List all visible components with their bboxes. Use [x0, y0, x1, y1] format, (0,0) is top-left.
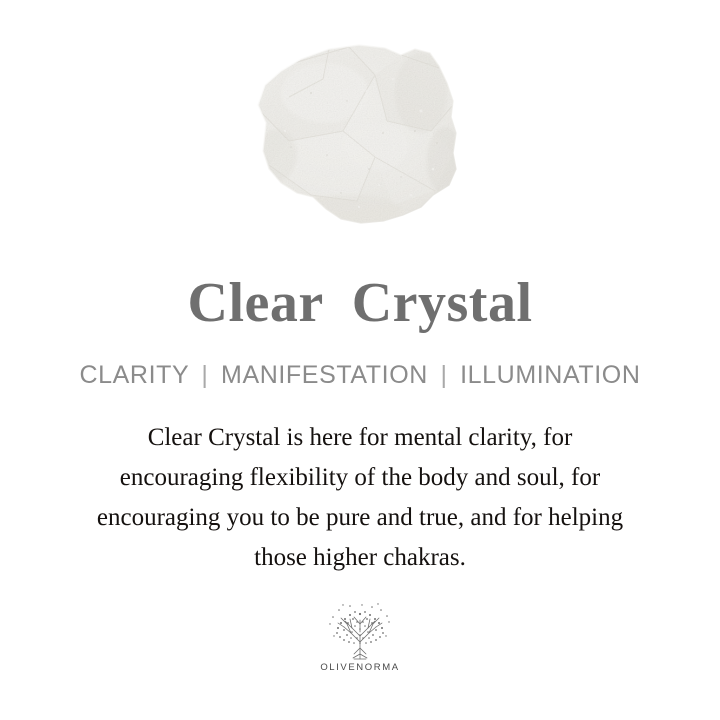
- hero-image-area: [0, 0, 720, 275]
- crystal-image: [225, 35, 495, 250]
- product-info-card: Clear Crystal CLARITY | MANIFESTATION | …: [0, 0, 720, 720]
- description-text: Clear Crystal is here for mental clarity…: [45, 418, 675, 578]
- description-line: those higher chakras.: [45, 538, 675, 578]
- description-line: encouraging you to be pure and true, and…: [45, 498, 675, 538]
- description-line: Clear Crystal is here for mental clarity…: [45, 418, 675, 458]
- keyword-separator: |: [435, 361, 452, 389]
- keyword-separator: |: [196, 361, 213, 389]
- brand-name: OLIVENORMA: [320, 662, 399, 673]
- keyword-illumination: ILLUMINATION: [460, 361, 640, 389]
- brand-logo: OLIVENORMA: [317, 602, 403, 673]
- page-title: Clear Crystal: [188, 275, 533, 331]
- keyword-clarity: CLARITY: [80, 361, 189, 389]
- olive-tree-icon: [317, 602, 403, 660]
- keyword-list: CLARITY | MANIFESTATION | ILLUMINATION: [80, 361, 641, 390]
- keyword-manifestation: MANIFESTATION: [221, 361, 428, 389]
- clear-quartz-crystal-icon: [225, 35, 495, 250]
- description-line: encouraging flexibility of the body and …: [45, 458, 675, 498]
